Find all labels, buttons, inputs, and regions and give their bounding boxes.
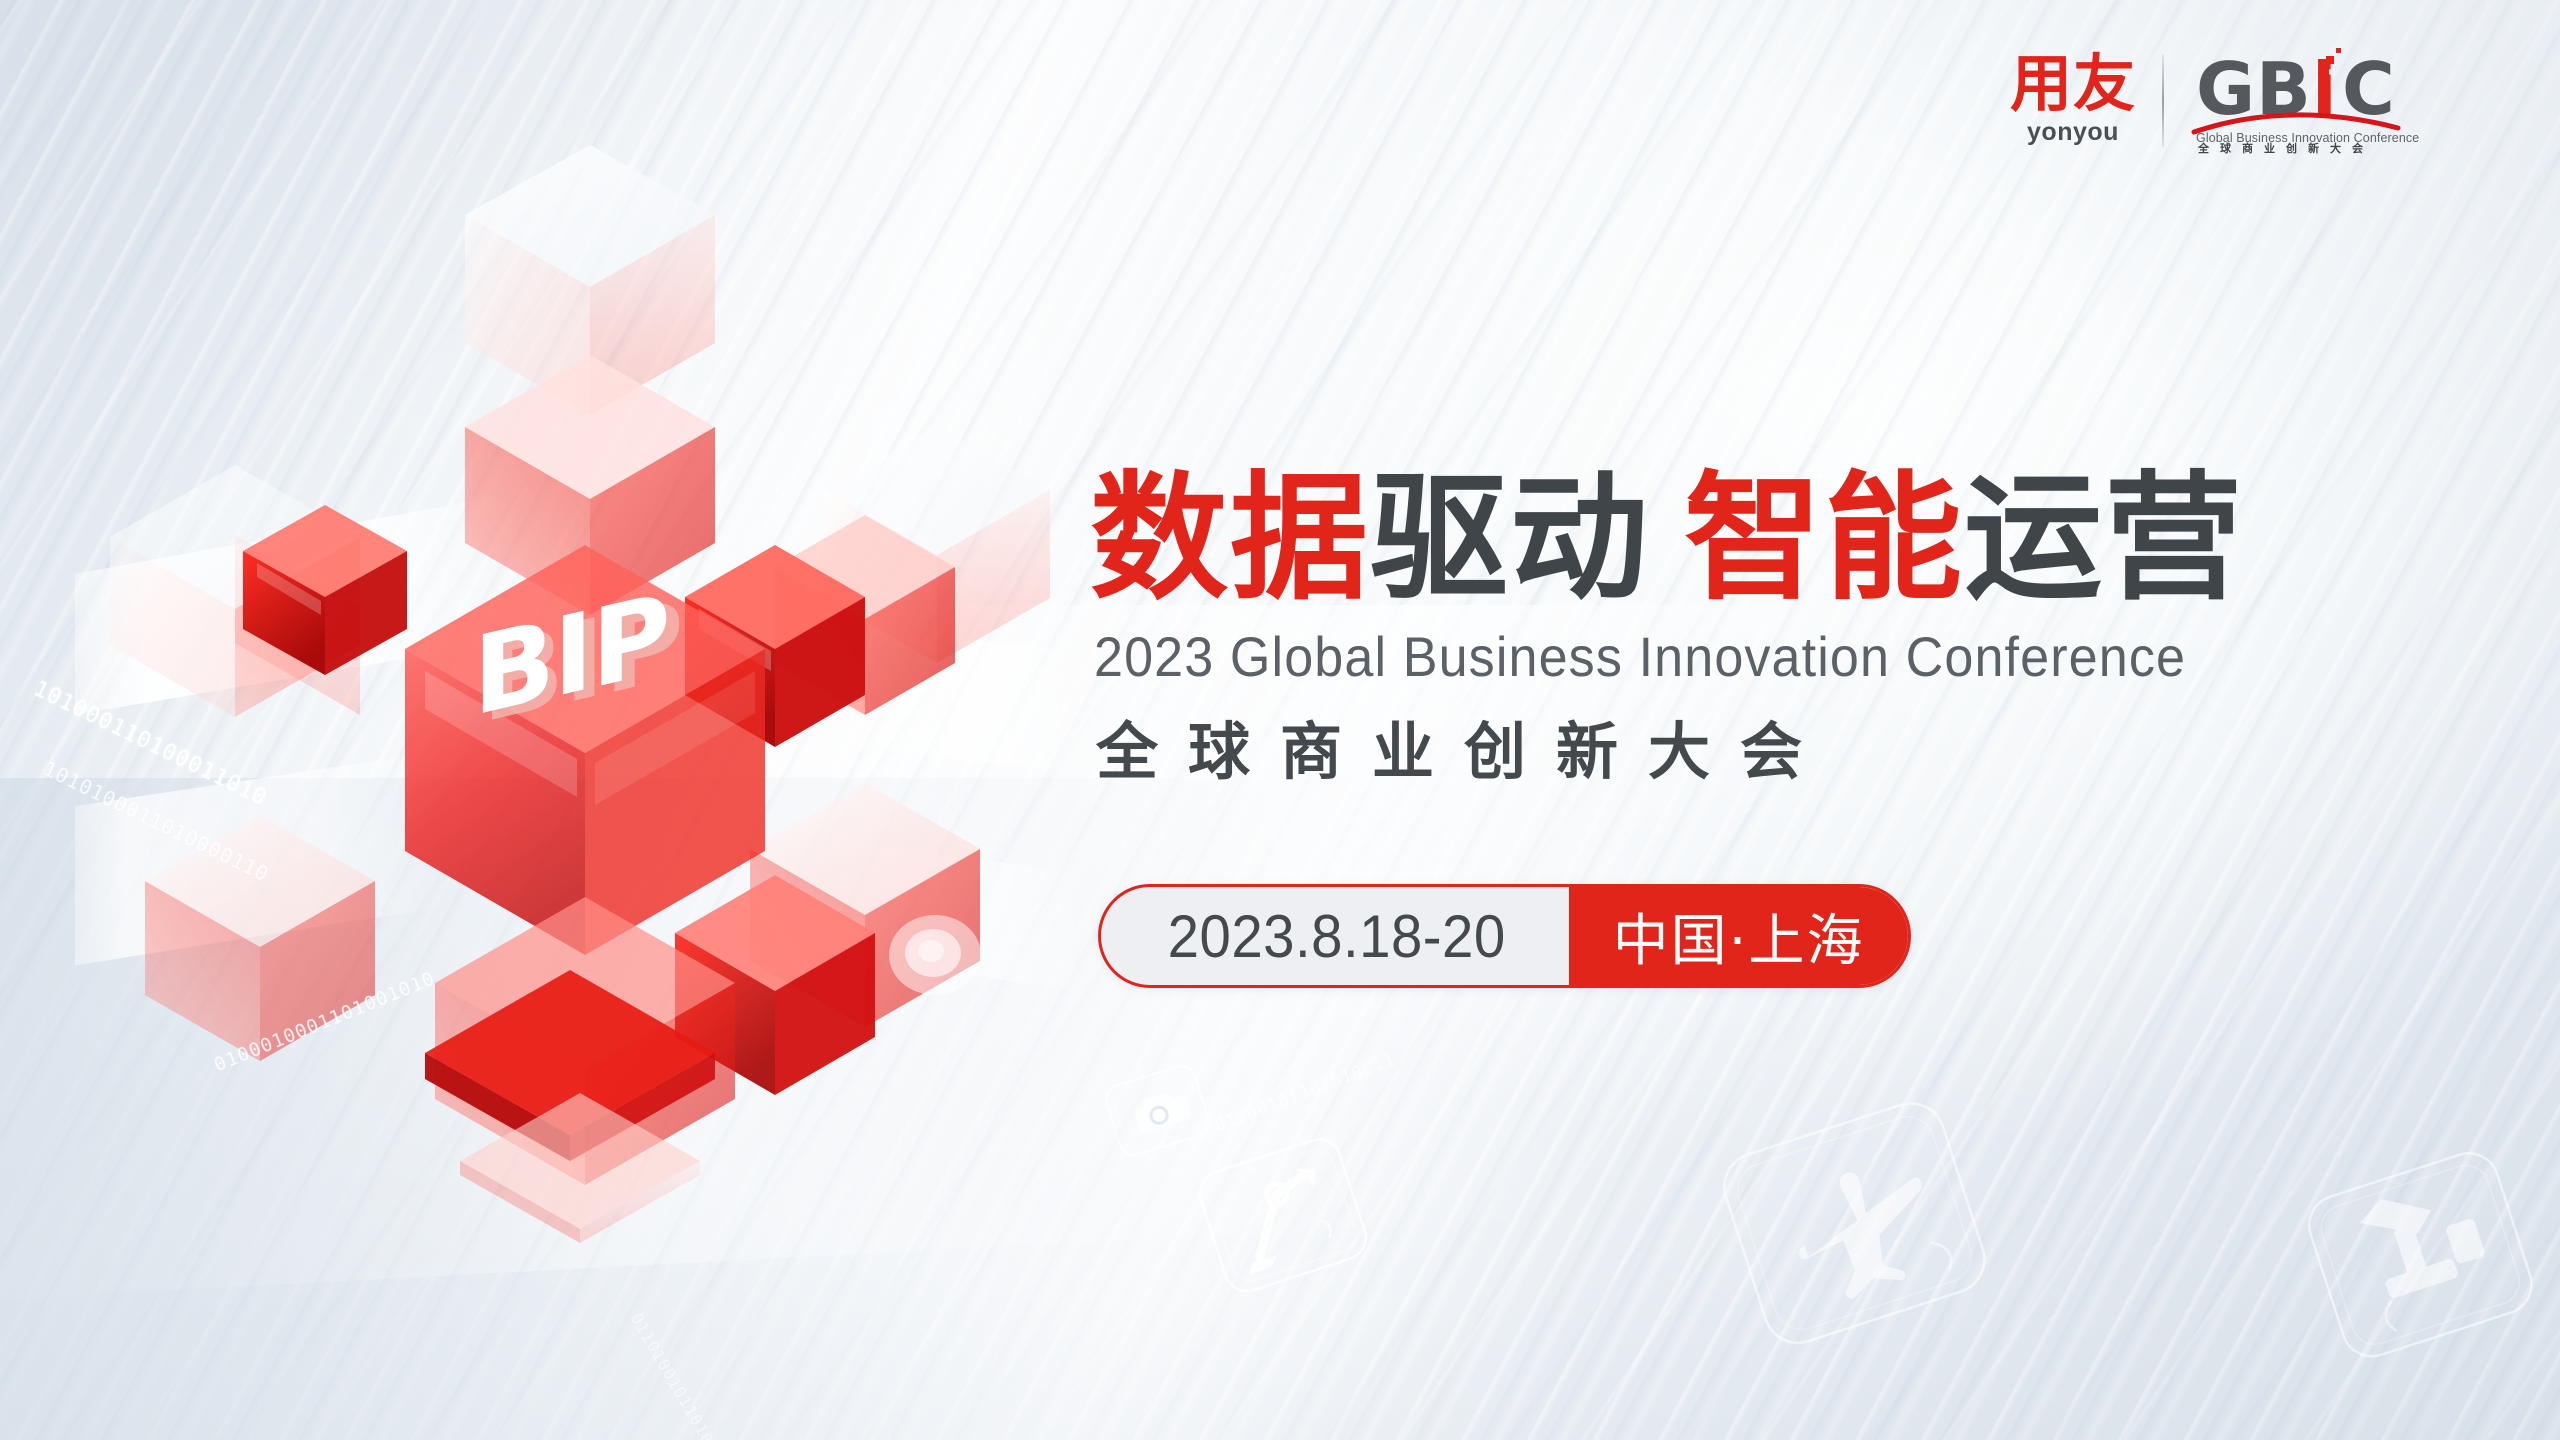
subtitle-chinese: 全球商业创新大会 [1096,701,2490,791]
event-info-pill: 2023.8.18-20 中国·上海 [1098,884,1911,988]
subtitle-english: 2023 Global Business Innovation Conferen… [1094,624,2392,689]
gbic-cn-tagline: 全球商业创新大会 [2197,141,2374,154]
yonyou-logo: 用友 yonyou [2010,54,2136,147]
gbic-logo: G B i C Global Business Innovation Confe… [2190,42,2490,159]
headline-part-intelligent: 智能 [1684,458,1964,619]
logo-divider [2162,55,2164,147]
yonyou-english-wordmark: yonyou [2027,118,2119,147]
logo-lockup: 用友 yonyou G B i C Global Business Innova… [2010,42,2490,159]
event-location: 中国·上海 [1569,887,1909,985]
conference-banner: BIP BIP 101000110100011010 1010100011010… [0,0,2560,1440]
main-text-block: 数据驱动智能运营 2023 Global Business Innovation… [1090,470,2490,791]
page-title: 数据驱动智能运营 [1090,470,2490,608]
yonyou-chinese-wordmark: 用友 [2010,54,2136,114]
headline-part-drive: 驱动 [1370,458,1650,619]
bip-cube-snowflake-graphic: BIP BIP 101000110100011010 1010100011010… [75,115,1105,1245]
headline-part-data: 数据 [1090,458,1370,619]
headline-part-operations: 运营 [1964,458,2244,619]
event-date: 2023.8.18-20 [1115,887,1555,985]
